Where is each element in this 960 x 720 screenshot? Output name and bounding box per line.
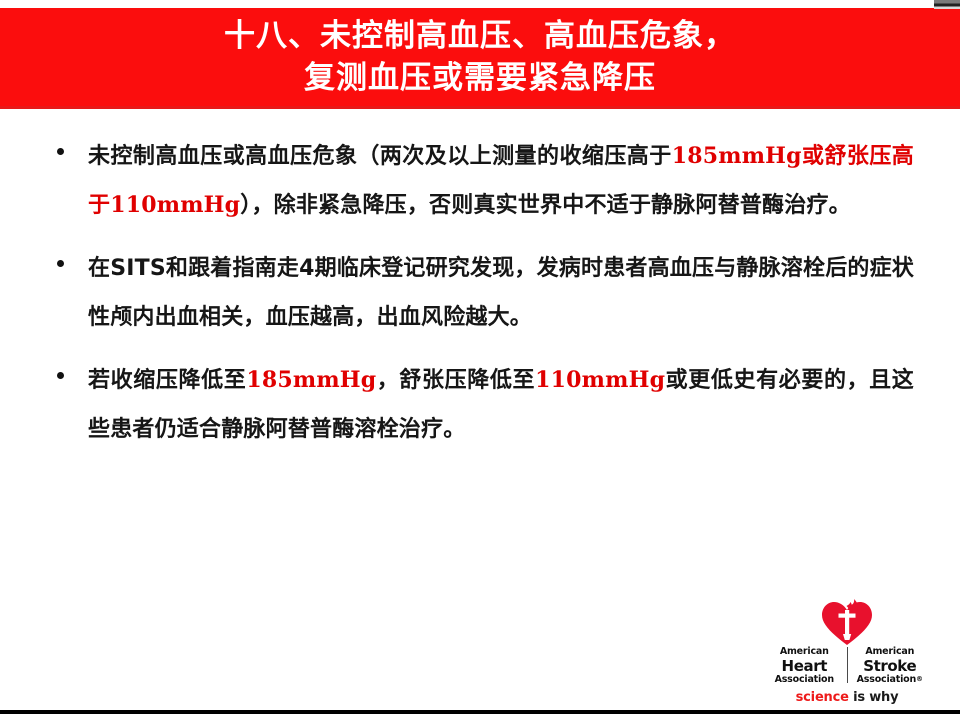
logo-american-heart-association: American Heart Association — [766, 646, 843, 685]
aha-line-2: Heart — [766, 658, 843, 674]
asa-association-text: Association — [857, 674, 916, 685]
logo-tagline: science is why — [766, 690, 928, 705]
tagline-is-why: is why — [853, 690, 898, 705]
bullet-text-1: 未控制高血压或高血压危象（两次及以上测量的收缩压高于185mmHg或舒张压高于1… — [88, 132, 914, 230]
bullet-3-segment-4-highlight: 110mmHg — [535, 367, 665, 393]
top-right-corner-marker — [934, 0, 960, 9]
heart-torch-icon — [820, 598, 874, 646]
bullet-1-segment-3: ），除非紧急降压，否则真实世界中不适于静脉阿替普酶治疗。 — [240, 193, 851, 218]
bullet-marker-icon — [57, 260, 64, 267]
aha-line-1: American — [766, 646, 843, 658]
bullet-marker-icon — [57, 372, 64, 379]
logo-divider — [847, 647, 848, 683]
logo-organization-names: American Heart Association American Stro… — [766, 646, 928, 685]
slide-title-line-1: 十八、未控制高血压、高血压危象， — [224, 15, 736, 57]
list-item: 若收缩压降低至185mmHg，舒张压降低至110mmHg或更低史有必要的，且这些… — [0, 356, 960, 454]
slide-title-banner: 十八、未控制高血压、高血压危象， 复测血压或需要紧急降压 — [0, 8, 960, 109]
bullet-3-segment-1: 若收缩压降低至 — [88, 368, 246, 393]
asa-line-3: Association® — [852, 674, 929, 686]
bottom-divider-rule — [0, 710, 960, 714]
asa-line-1: American — [852, 646, 929, 658]
asa-line-2: Stroke — [852, 658, 929, 674]
tagline-science: science — [796, 690, 849, 705]
bullet-3-segment-2-highlight: 185mmHg — [246, 367, 376, 393]
slide-canvas: 十八、未控制高血压、高血压危象， 复测血压或需要紧急降压 未控制高血压或高血压危… — [0, 0, 960, 720]
aha-asa-logo: American Heart Association American Stro… — [766, 598, 928, 704]
registered-trademark-icon: ® — [916, 675, 923, 683]
bullet-text-3: 若收缩压降低至185mmHg，舒张压降低至110mmHg或更低史有必要的，且这些… — [88, 356, 914, 454]
bullet-1-segment-1: 未控制高血压或高血压危象（两次及以上测量的收缩压高于 — [88, 144, 672, 169]
bullet-marker-icon — [57, 148, 64, 155]
list-item: 在SITS和跟着指南走4期临床登记研究发现，发病时患者高血压与静脉溶栓后的症状性… — [0, 244, 960, 342]
list-item: 未控制高血压或高血压危象（两次及以上测量的收缩压高于185mmHg或舒张压高于1… — [0, 132, 960, 230]
bullet-text-2: 在SITS和跟着指南走4期临床登记研究发现，发病时患者高血压与静脉溶栓后的症状性… — [88, 244, 914, 342]
bullet-2-segment-1: 在SITS和跟着指南走4期临床登记研究发现，发病时患者高血压与静脉溶栓后的症状性… — [88, 256, 914, 330]
slide-body: 未控制高血压或高血压危象（两次及以上测量的收缩压高于185mmHg或舒张压高于1… — [0, 132, 960, 468]
bullet-3-segment-3: ，舒张压降低至 — [376, 368, 535, 393]
logo-american-stroke-association: American Stroke Association® — [852, 646, 929, 685]
slide-title-line-2: 复测血压或需要紧急降压 — [304, 57, 656, 99]
aha-line-3: Association — [766, 674, 843, 686]
